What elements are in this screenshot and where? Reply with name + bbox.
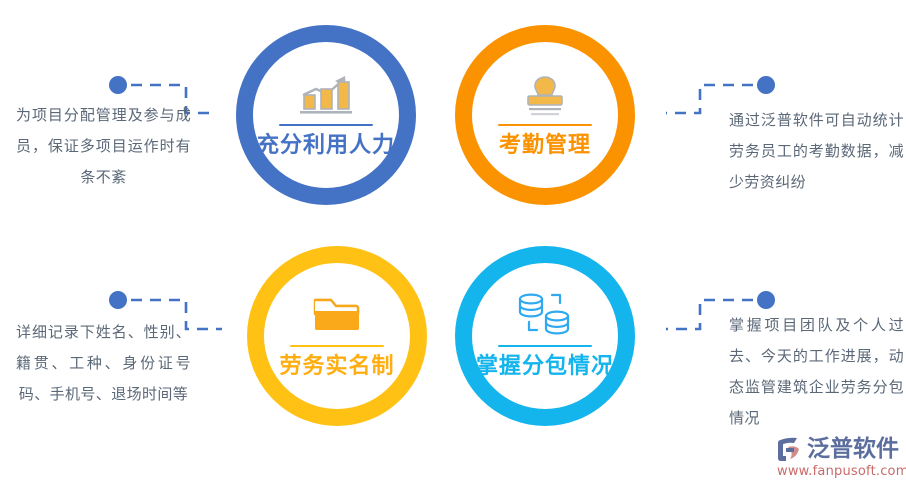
badge-label: 劳务实名制 [279, 356, 394, 378]
badge-labor-real-name-system[interactable]: 劳务实名制 [247, 246, 427, 426]
badge-attendance-management[interactable]: 考勤管理 [455, 25, 635, 205]
note-real-name: 详细记录下姓名、性别、籍贯、工种、身份证号码、手机号、退场时间等 [16, 317, 191, 410]
connector-dot-bottom-left [109, 291, 127, 309]
badge-divider [498, 124, 592, 126]
badge-divider [290, 345, 384, 347]
fanpu-logo[interactable]: 泛普软件 www.fanpusoft.com [775, 434, 897, 482]
logo-url: www.fanpusoft.com [777, 464, 906, 479]
connector-dot-top-left [109, 76, 127, 94]
logo-row: 泛普软件 [775, 434, 899, 464]
badge-label: 充分利用人力 [257, 135, 395, 157]
connector-dot-bottom-right [757, 291, 775, 309]
connector-dot-top-right [757, 76, 775, 94]
badge-divider [279, 124, 373, 126]
infographic-canvas: 充分利用人力 考勤管理 [0, 0, 906, 486]
stamp-icon [515, 73, 575, 117]
database-sync-icon [515, 294, 575, 338]
note-manpower: 为项目分配管理及参与成员，保证多项目运作时有条不紊 [16, 100, 191, 193]
badge-grasp-subcontracting[interactable]: 掌握分包情况 [455, 246, 635, 426]
note-subcontracting: 掌握项目团队及个人过去、今天的工作进展，动态监管建筑企业劳务分包情况 [729, 310, 904, 434]
bar-chart-growth-icon [296, 73, 356, 117]
note-attendance: 通过泛普软件可自动统计劳务员工的考勤数据，减少劳资纠纷 [729, 105, 904, 198]
folder-open-icon [307, 294, 367, 338]
badge-label: 考勤管理 [499, 135, 591, 157]
badge-label: 掌握分包情况 [476, 356, 614, 378]
fanpu-logo-mark-icon [775, 436, 803, 463]
badge-divider [498, 345, 592, 347]
badge-fully-utilize-manpower[interactable]: 充分利用人力 [236, 25, 416, 205]
logo-name: 泛普软件 [807, 436, 899, 463]
